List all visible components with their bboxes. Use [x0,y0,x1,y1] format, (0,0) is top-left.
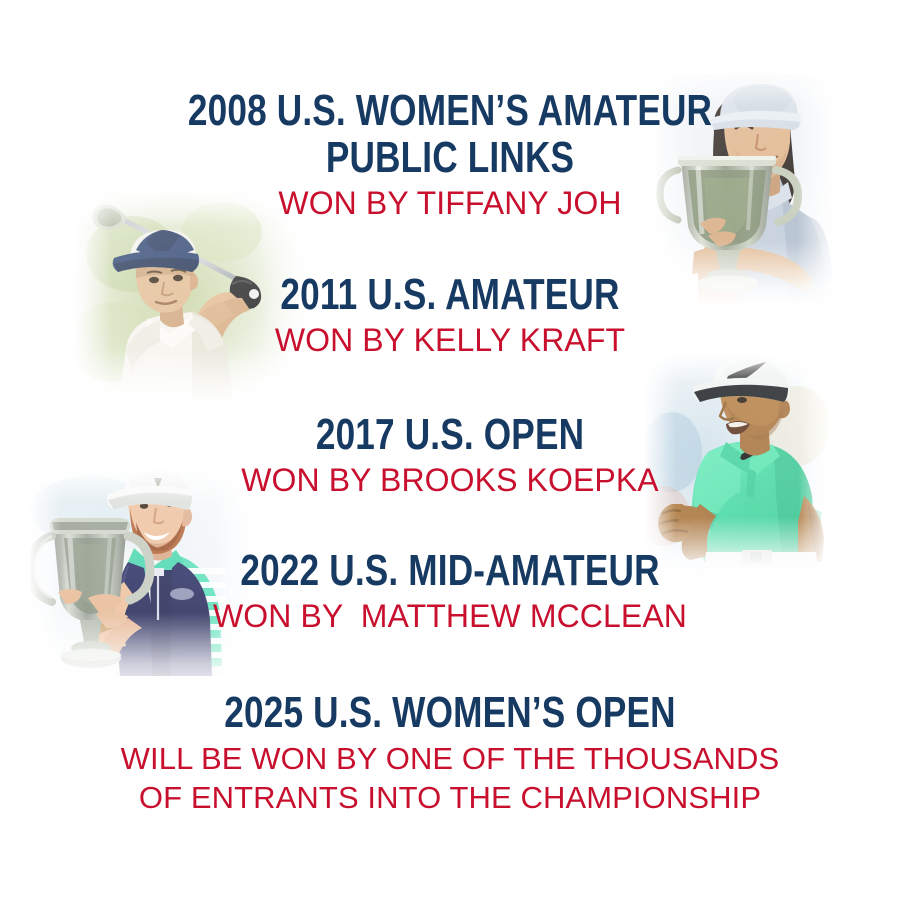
championship-title-2022: 2022 U.S. MID-AMATEUR [90,548,810,595]
entry-2025-us-womens-open: 2025 U.S. WOMEN’S OPEN WILL BE WON BY ON… [0,690,900,815]
championship-title-2017: 2017 U.S. OPEN [90,412,810,459]
call-to-action-line-2: OF ENTRANTS INTO THE CHAMPIONSHIP [0,780,900,815]
winner-text-2022: WON BY MATTHEW MCCLEAN [0,598,900,634]
winner-text-2011: WON BY KELLY KRAFT [0,322,900,358]
entry-2022-us-mid-amateur: 2022 U.S. MID-AMATEUR WON BY MATTHEW MCC… [0,548,900,634]
championship-timeline-graphic: 2008 U.S. WOMEN’S AMATEUR PUBLIC LINKS W… [0,0,900,900]
entry-2017-us-open: 2017 U.S. OPEN WON BY BROOKS KOEPKA [0,412,900,498]
championship-title-line-2-2008: PUBLIC LINKS [90,135,810,182]
entry-2011-us-amateur: 2011 U.S. AMATEUR WON BY KELLY KRAFT [0,272,900,358]
call-to-action-line-1: WILL BE WON BY ONE OF THE THOUSANDS [0,741,900,776]
championship-title-line-1-2008: 2008 U.S. WOMEN’S AMATEUR [90,88,810,135]
winner-text-2008: WON BY TIFFANY JOH [0,185,900,221]
winner-text-2017: WON BY BROOKS KOEPKA [0,462,900,498]
championship-title-2011: 2011 U.S. AMATEUR [90,272,810,319]
entry-2008-womens-amateur-public-links: 2008 U.S. WOMEN’S AMATEUR PUBLIC LINKS W… [0,88,900,222]
championship-title-2025: 2025 U.S. WOMEN’S OPEN [90,690,810,737]
